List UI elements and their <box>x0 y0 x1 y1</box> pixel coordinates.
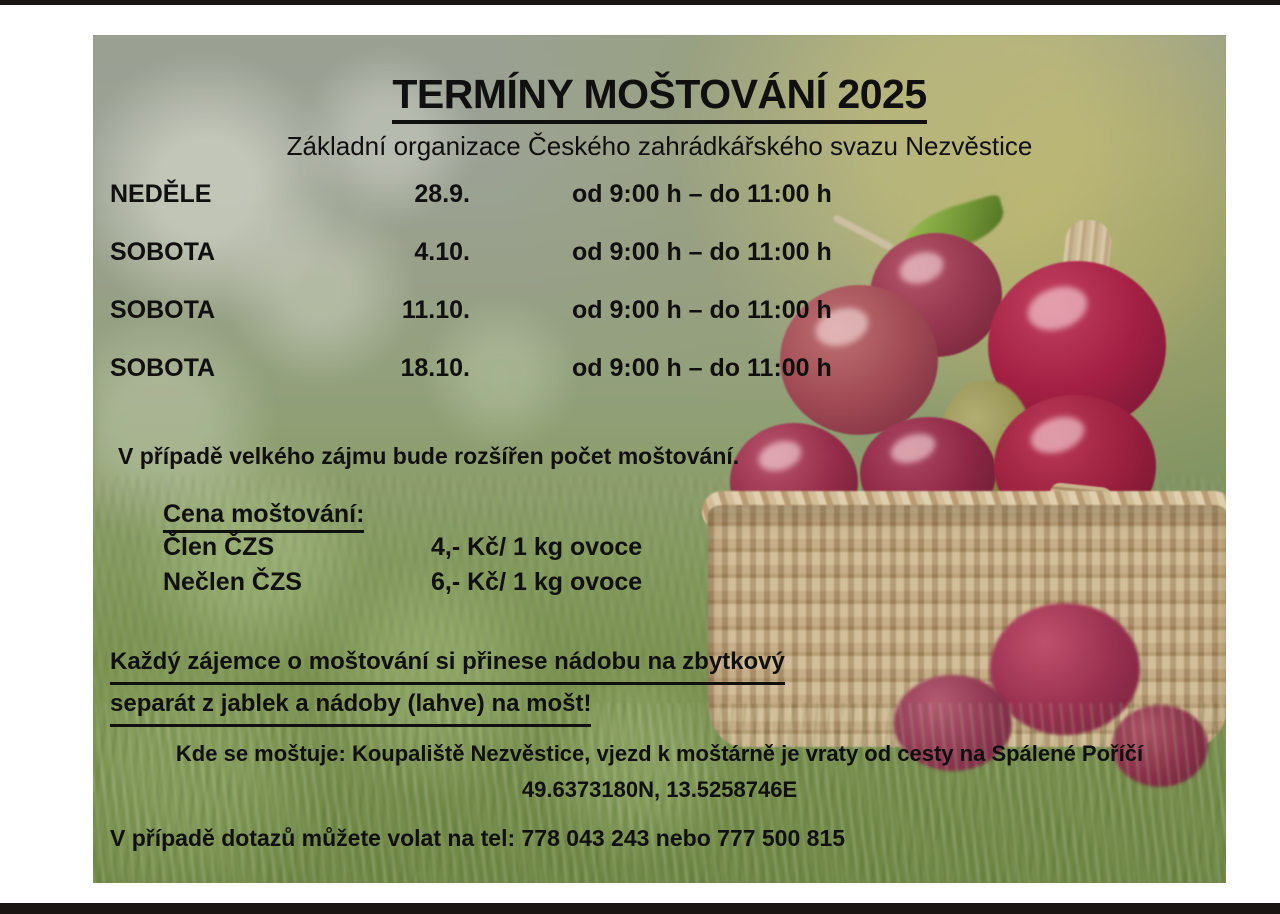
schedule-day: SOBOTA <box>110 296 330 325</box>
poster-text-layer: TERMÍNY MOŠTOVÁNÍ 2025 Základní organiza… <box>93 35 1226 883</box>
schedule-time: od 9:00 h – do 11:00 h <box>470 180 832 209</box>
poster-image: TERMÍNY MOŠTOVÁNÍ 2025 Základní organiza… <box>93 35 1226 883</box>
schedule-table: NEDĚLE 28.9. od 9:00 h – do 11:00 h SOBO… <box>110 180 870 412</box>
poster-title: TERMÍNY MOŠTOVÁNÍ 2025 <box>93 71 1226 118</box>
schedule-date: 11.10. <box>330 296 470 325</box>
price-label: Nečlen ČZS <box>163 568 431 597</box>
schedule-date: 4.10. <box>330 238 470 267</box>
schedule-row: SOBOTA 4.10. od 9:00 h – do 11:00 h <box>110 238 870 296</box>
document-page: TERMÍNY MOŠTOVÁNÍ 2025 Základní organiza… <box>0 5 1280 903</box>
schedule-date: 28.9. <box>330 180 470 209</box>
container-note-line-1: Každý zájemce o moštování si přinese nád… <box>110 643 785 685</box>
location-section: Kde se moštuje: Koupaliště Nezvěstice, v… <box>93 741 1226 803</box>
poster-title-text: TERMÍNY MOŠTOVÁNÍ 2025 <box>392 71 926 124</box>
schedule-time: od 9:00 h – do 11:00 h <box>470 354 832 383</box>
price-heading-text: Cena moštování: <box>163 500 364 533</box>
schedule-date: 18.10. <box>330 354 470 383</box>
price-section: Cena moštování: Člen ČZS 4,- Kč/ 1 kg ov… <box>163 500 763 603</box>
schedule-row: SOBOTA 11.10. od 9:00 h – do 11:00 h <box>110 296 870 354</box>
price-value: 6,- Kč/ 1 kg ovoce <box>431 568 642 597</box>
poster-subtitle: Základní organizace Českého zahrádkářské… <box>93 131 1226 162</box>
capacity-note: V případě velkého zájmu bude rozšířen po… <box>118 443 739 470</box>
container-note-line-2: separát z jablek a nádoby (lahve) na moš… <box>110 685 591 727</box>
gps-coordinates: 49.6373180N, 13.5258746E <box>93 777 1226 803</box>
schedule-row: SOBOTA 18.10. od 9:00 h – do 11:00 h <box>110 354 870 412</box>
price-row: Člen ČZS 4,- Kč/ 1 kg ovoce <box>163 533 763 568</box>
price-row: Nečlen ČZS 6,- Kč/ 1 kg ovoce <box>163 568 763 603</box>
contact-phone-line: V případě dotazů můžete volat na tel: 77… <box>110 825 845 852</box>
schedule-time: od 9:00 h – do 11:00 h <box>470 296 832 325</box>
viewer-bottom-band <box>0 903 1280 914</box>
location-line: Kde se moštuje: Koupaliště Nezvěstice, v… <box>93 741 1226 767</box>
price-heading: Cena moštování: <box>163 500 763 529</box>
schedule-day: SOBOTA <box>110 238 330 267</box>
schedule-day: SOBOTA <box>110 354 330 383</box>
price-value: 4,- Kč/ 1 kg ovoce <box>431 533 642 562</box>
schedule-row: NEDĚLE 28.9. od 9:00 h – do 11:00 h <box>110 180 870 238</box>
schedule-time: od 9:00 h – do 11:00 h <box>470 238 832 267</box>
container-requirement-note: Každý zájemce o moštování si přinese nád… <box>110 643 785 727</box>
price-label: Člen ČZS <box>163 533 431 562</box>
schedule-day: NEDĚLE <box>110 180 330 209</box>
